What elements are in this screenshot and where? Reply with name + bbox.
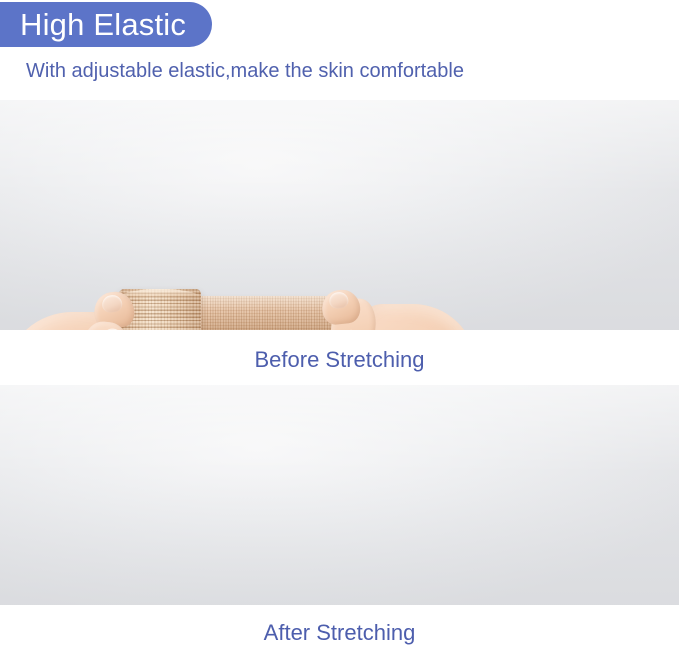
fingernail — [101, 294, 123, 314]
feature-title-badge: High Elastic — [0, 2, 212, 47]
fingernail — [337, 329, 365, 330]
fingernail — [328, 291, 349, 309]
photo-panel-after — [0, 385, 679, 605]
photo-panel-before — [0, 100, 679, 330]
caption-before-stretching: Before Stretching — [0, 347, 679, 373]
right-index-finger — [320, 288, 361, 326]
left-hand-before — [8, 292, 160, 330]
right-hand-before — [318, 290, 488, 330]
photo-background-after — [0, 385, 679, 605]
feature-subtitle: With adjustable elastic,make the skin co… — [26, 58, 464, 84]
fingernail — [100, 328, 125, 330]
product-feature-image: High Elastic With adjustable elastic,mak… — [0, 0, 679, 650]
caption-after-stretching: After Stretching — [0, 620, 679, 646]
feature-title-text: High Elastic — [20, 9, 186, 40]
